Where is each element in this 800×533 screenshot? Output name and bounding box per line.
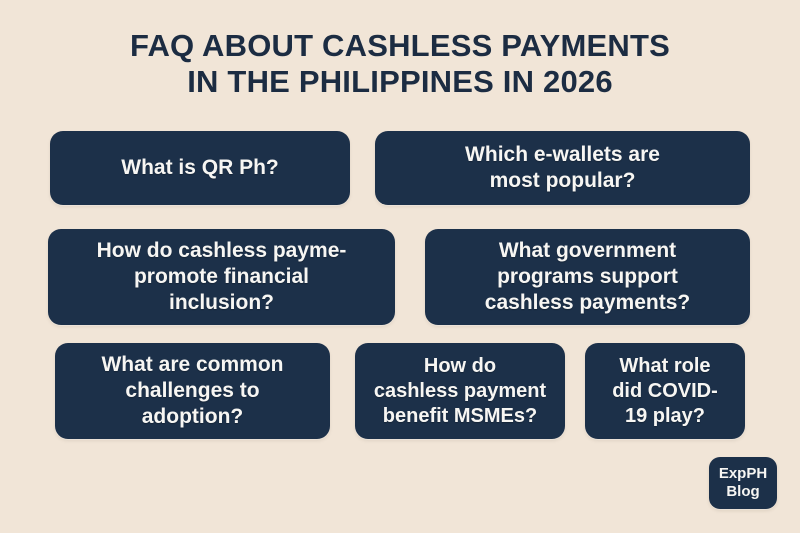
faq-card-grid: What is QR Ph? Which e-wallets are most … [0,131,800,439]
faq-card-label: What government programs support cashles… [485,238,690,316]
page-title-line-2: IN THE PHILIPPINES IN 2026 [0,64,800,100]
faq-card-label: How do cashless payment benefit MSMEs? [374,354,546,429]
faq-poster: FAQ ABOUT CASHLESS PAYMENTS IN THE PHILI… [0,0,800,533]
brand-logo-line-1: ExpPH [719,465,767,483]
faq-card-qr-ph[interactable]: What is QR Ph? [50,131,350,205]
faq-card-covid-19[interactable]: What role did COVID- 19 play? [585,343,745,439]
page-title: FAQ ABOUT CASHLESS PAYMENTS IN THE PHILI… [0,28,800,100]
faq-card-msmes[interactable]: How do cashless payment benefit MSMEs? [355,343,565,439]
brand-logo-line-2: Blog [726,483,759,501]
brand-logo-badge: ExpPH Blog [709,457,777,509]
page-title-line-1: FAQ ABOUT CASHLESS PAYMENTS [0,28,800,64]
faq-card-label: What role did COVID- 19 play? [612,354,718,429]
faq-card-government-programs[interactable]: What government programs support cashles… [425,229,750,325]
faq-card-label: How do cashless payme- promote financial… [97,238,347,316]
faq-card-label: Which e-wallets are most popular? [465,142,660,194]
faq-card-ewallets[interactable]: Which e-wallets are most popular? [375,131,750,205]
faq-row-3: What are common challenges to adoption? … [0,343,800,439]
faq-card-label: What are common challenges to adoption? [101,352,283,430]
faq-card-label: What is QR Ph? [121,155,279,181]
faq-row-1: What is QR Ph? Which e-wallets are most … [0,131,800,205]
faq-row-2: How do cashless payme- promote financial… [0,229,800,325]
faq-card-adoption-challenges[interactable]: What are common challenges to adoption? [55,343,330,439]
faq-card-financial-inclusion[interactable]: How do cashless payme- promote financial… [48,229,395,325]
